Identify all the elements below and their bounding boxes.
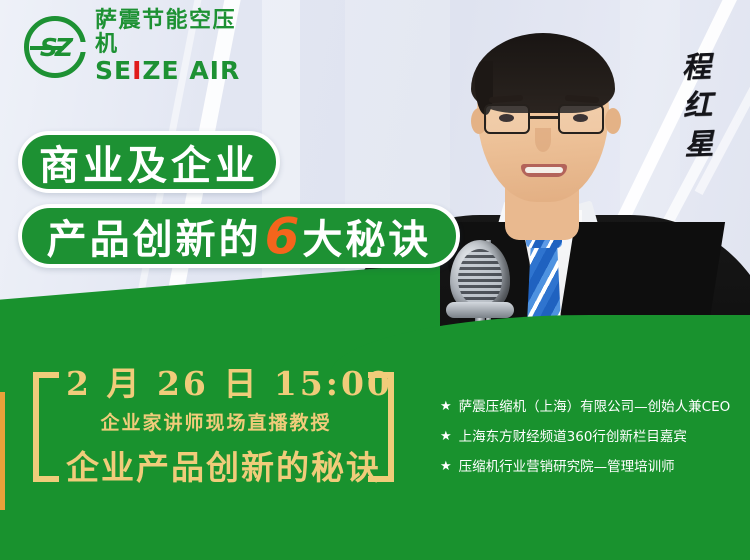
event-info: 2 月 26 日 15:00 企业家讲师现场直播教授 企业产品创新的秘诀: [66, 366, 366, 489]
logo-monogram: SZ: [34, 31, 76, 63]
eyeglasses-lens-left: [484, 104, 530, 134]
speaker-name-char: 红: [671, 85, 724, 125]
headline-line-2-before: 产品创新的: [47, 207, 262, 265]
credential-text: 压缩机行业营销研究院—管理培训师: [459, 458, 675, 476]
microphone-grill: [458, 249, 502, 305]
logo-en-accent: I: [132, 57, 142, 85]
list-item: ★ 压缩机行业营销研究院—管理培训师: [440, 458, 740, 476]
speaker-name: 程 红 星: [670, 47, 726, 164]
headline-line-1-text: 商业及企业: [39, 133, 259, 191]
logo-en-part2: ZE AIR: [142, 57, 240, 85]
eyeglasses-bridge: [530, 116, 558, 119]
credential-text: 上海东方财经频道360行创新栏目嘉宾: [459, 428, 687, 446]
list-item: ★ 上海东方财经频道360行创新栏目嘉宾: [440, 428, 740, 446]
event-subtitle: 企业家讲师现场直播教授: [66, 408, 366, 435]
logo-name-en: SEIZE AIR: [95, 57, 254, 85]
logo-name-cn: 萨震节能空压机: [95, 9, 254, 57]
bracket-left-decoration: [33, 372, 59, 482]
headline-line-2-after: 大秘诀: [302, 207, 431, 265]
star-icon: ★: [440, 458, 452, 476]
headline-line-1: 商业及企业: [18, 131, 280, 193]
star-icon: ★: [440, 398, 452, 416]
credentials-list: ★ 萨震压缩机（上海）有限公司—创始人兼CEO ★ 上海东方财经频道360行创新…: [440, 398, 740, 489]
credential-text: 萨震压缩机（上海）有限公司—创始人兼CEO: [459, 398, 731, 416]
headline-number: 6: [262, 211, 303, 261]
logo-en-part1: SE: [95, 57, 132, 85]
event-date-time: 2 月 26 日 15:00: [66, 366, 366, 402]
logo-wordmark: 萨震节能空压机 SEIZE AIR: [95, 9, 254, 85]
speaker-name-char: 程: [670, 47, 723, 87]
speaker-name-char: 星: [673, 124, 726, 164]
headline-line-2: 产品创新的6大秘诀: [18, 204, 460, 268]
event-topic: 企业产品创新的秘诀: [66, 441, 366, 489]
ear-right: [605, 108, 621, 134]
sz-circle-logo-icon: SZ: [24, 16, 86, 78]
eyeglasses-lens-right: [558, 104, 604, 134]
mouth: [521, 164, 567, 177]
brand-logo[interactable]: SZ 萨震节能空压机 SEIZE AIR: [24, 16, 254, 78]
promo-poster: SZ 萨震节能空压机 SEIZE AIR 程 红 星 商业及企业 产品创新的6大…: [0, 0, 750, 560]
list-item: ★ 萨震压缩机（上海）有限公司—创始人兼CEO: [440, 398, 740, 416]
orange-accent-bar: [0, 392, 5, 510]
microphone-band: [446, 302, 514, 318]
star-icon: ★: [440, 428, 452, 446]
nose: [535, 128, 551, 152]
